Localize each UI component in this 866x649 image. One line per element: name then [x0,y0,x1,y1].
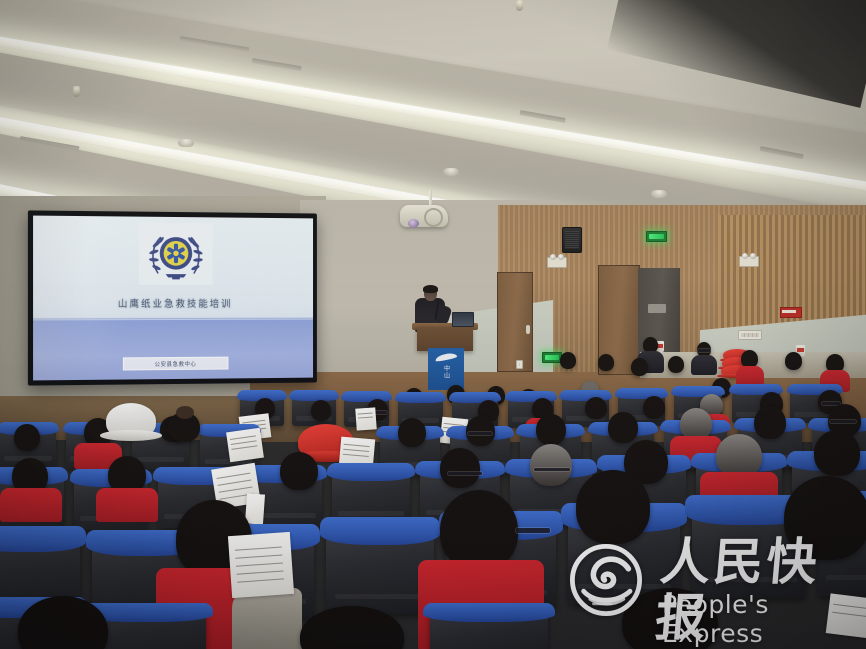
handout-paper [826,593,866,638]
podium-laptop [452,312,474,327]
attendee-head [576,470,650,544]
door-left[interactable] [497,272,533,372]
sprinkler-head [73,86,80,97]
star-of-life-laurel-emblem [142,226,208,282]
ceiling-shadow-edge [607,0,866,108]
glasses [516,528,550,533]
speaker-hair [423,285,438,293]
official-torso [691,355,717,375]
slide-emblem [138,223,212,285]
swoosh-bird-logo [435,352,458,362]
glasses [698,349,710,352]
photo-canvas: 山鹰纸业急救技能培训 公安县急救中心 中山 [0,0,866,649]
attendee-head [784,476,866,560]
wall-switch[interactable] [516,360,523,369]
exit-sign [542,352,562,363]
podium-label: 中山 [443,365,450,379]
attendee-head [440,490,518,570]
wall-speaker [562,227,582,253]
ceiling [0,0,866,215]
projector-ring [424,208,443,227]
wall-socket-panel [738,330,762,340]
hair-bun [176,406,194,419]
handout-paper [245,493,265,524]
white-hardhat [106,403,156,439]
slide-title: 山鹰纸业急救技能培训 [33,296,313,310]
exit-sign [646,231,667,242]
attendee-head [622,588,718,649]
projector-lens [408,219,419,228]
podium-front-panel: 中山 [428,348,464,390]
ceiling-projector [400,205,448,227]
emergency-light [739,256,759,267]
door-plate [648,304,666,313]
projection-screen-frame: 山鹰纸业急救技能培训 公安县急救中心 [28,210,317,385]
smoke-detector [178,139,194,147]
smoke-detector [651,190,667,198]
fire-hose-cabinet-sign [780,307,802,318]
handout-paper [226,428,264,462]
auditorium-seat[interactable] [430,606,548,649]
emergency-light [547,257,567,268]
projection-screen: 山鹰纸业急救技能培训 公安县急救中心 [33,216,313,381]
handout-paper [228,532,294,598]
smoke-detector [443,168,459,176]
sprinkler-head [516,0,523,11]
slide-bottom-band [33,319,313,381]
handout-paper [355,407,376,430]
slide-caption: 公安县急救中心 [122,357,228,371]
